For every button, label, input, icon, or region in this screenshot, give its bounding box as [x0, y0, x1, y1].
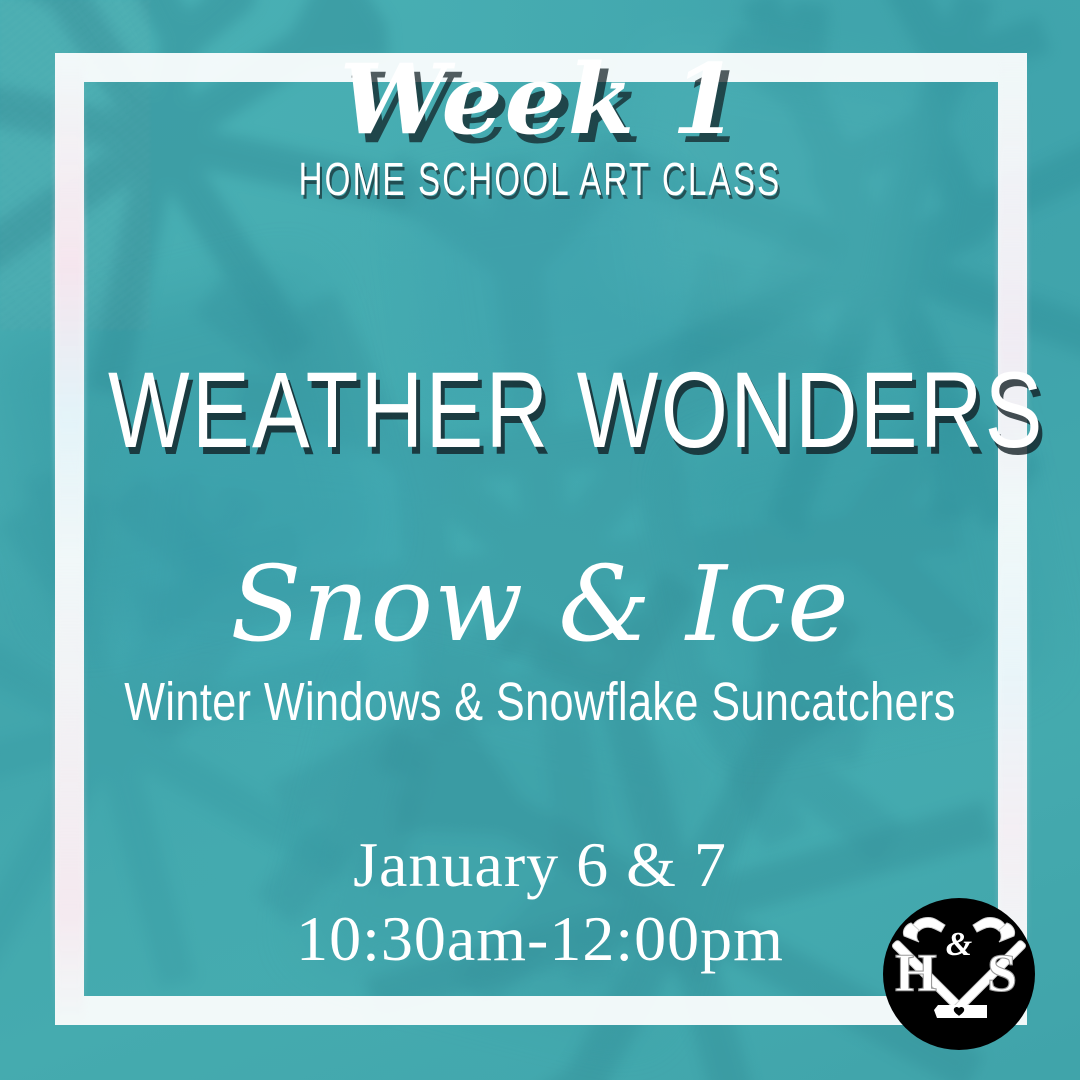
logo-letter-s: S	[987, 943, 1017, 1003]
activity-description: Winter Windows & Snowflake Suncatchers	[108, 673, 972, 732]
brand-logo: & H S	[883, 898, 1035, 1050]
logo-ampersand: &	[946, 926, 973, 963]
week-label: Week 1	[0, 48, 1080, 152]
theme-script-label: Snow & Ice	[0, 545, 1080, 665]
poster-canvas: Week 1 HOME SCHOOL ART CLASS WEATHER WON…	[0, 0, 1080, 1080]
logo-letter-h: H	[895, 943, 937, 1003]
logo-state-outline	[934, 1005, 987, 1018]
page-title: WEATHER WONDERS	[108, 356, 972, 464]
schedule-date: January 6 & 7	[0, 828, 1080, 902]
program-name: HOME SCHOOL ART CLASS	[151, 152, 929, 206]
